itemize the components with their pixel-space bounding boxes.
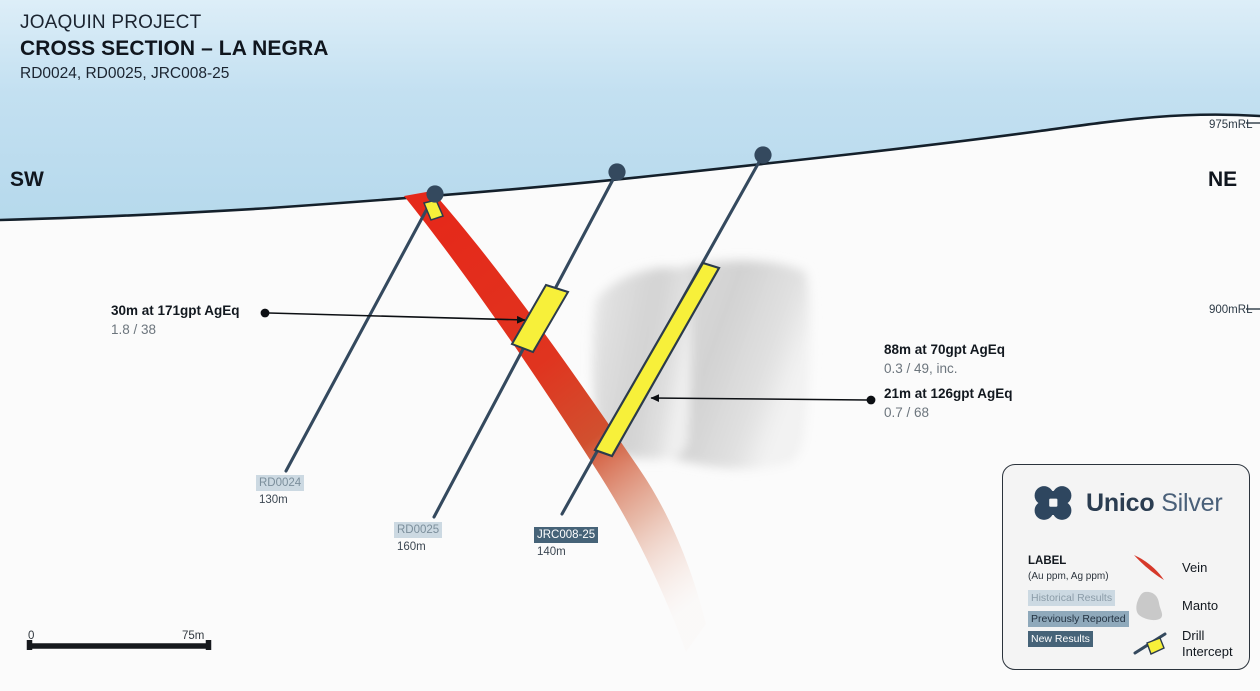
drillhole-label-rd0024[interactable]: RD0024 130m (256, 473, 304, 506)
legend-symbol-key: Vein Manto Drill Intercept (1131, 549, 1243, 663)
swatch-text: New Results (1028, 631, 1093, 647)
swatch-text: Previously Reported (1028, 611, 1129, 627)
elevation-label-975: 975mRL (1209, 119, 1252, 131)
drillhole-label-jrc008-25[interactable]: JRC008-25 140m (534, 525, 598, 558)
brand-word-secondary: Silver (1161, 489, 1222, 517)
unico-silver-mark-icon (1031, 483, 1077, 523)
title-block: JOAQUIN PROJECT CROSS SECTION – LA NEGRA… (20, 10, 329, 85)
scale-bar-end: 75m (182, 630, 204, 642)
intercept-headline: 88m at 70gpt AgEq (884, 341, 1013, 359)
drillhole-depth: 160m (394, 541, 442, 553)
legend-swatch-new-results: New Results (1028, 629, 1148, 647)
drillhole-id: RD0024 (256, 475, 304, 491)
cross-section-figure: JOAQUIN PROJECT CROSS SECTION – LA NEGRA… (0, 0, 1260, 691)
collar-marker-rd0025 (608, 163, 625, 180)
legend-label-units: (Au ppm, Ag ppm) (1028, 569, 1148, 584)
legend-entry-vein: Vein (1131, 549, 1243, 587)
swatch-text: Historical Results (1028, 590, 1115, 606)
legend-entry-manto: Manto (1131, 587, 1243, 625)
drillhole-depth: 140m (534, 546, 598, 558)
page-title: CROSS SECTION – LA NEGRA (20, 35, 329, 62)
legend-panel: Unico Silver LABEL (Au ppm, Ag ppm) Hist… (1002, 464, 1250, 670)
legend-entry-label: Drill Intercept (1182, 628, 1233, 660)
scale-bar-start: 0 (28, 630, 34, 642)
elevation-label-900: 900mRL (1209, 304, 1252, 316)
company-name: Unico Silver (1086, 489, 1223, 518)
intercept-grades: 0.7 / 68 (884, 403, 1013, 422)
intercept-callout-right: 88m at 70gpt AgEq 0.3 / 49, inc. 21m at … (884, 341, 1013, 422)
legend-swatch-previously-reported: Previously Reported (1028, 609, 1148, 627)
drillhole-id: RD0025 (394, 522, 442, 538)
intercept-grades: 1.8 / 38 (111, 320, 240, 339)
legend-label-heading: LABEL (1028, 553, 1148, 569)
collar-marker-rd0024 (426, 185, 443, 202)
legend-entry-label: Manto (1182, 598, 1218, 614)
drill-intercept-icon (1131, 627, 1173, 661)
legend-entry-label: Vein (1182, 560, 1207, 576)
company-logo: Unico Silver (1031, 483, 1223, 523)
legend-entry-drill-intercept: Drill Intercept (1131, 625, 1243, 663)
hole-list-subtitle: RD0024, RD0025, JRC008-25 (20, 62, 329, 85)
intercept-callout-left: 30m at 171gpt AgEq 1.8 / 38 (111, 302, 240, 339)
compass-label-ne: NE (1208, 168, 1237, 192)
collar-marker-jrc008-25 (754, 146, 771, 163)
brand-word-primary: Unico (1086, 489, 1154, 517)
drillhole-depth: 130m (256, 494, 304, 506)
project-name: JOAQUIN PROJECT (20, 10, 329, 35)
drillhole-label-rd0025[interactable]: RD0025 160m (394, 520, 442, 553)
scale-bar: 0 75m (22, 630, 212, 646)
legend-label-key: LABEL (Au ppm, Ag ppm) Historical Result… (1028, 553, 1148, 647)
intercept-grades: 0.3 / 49, inc. (884, 359, 1013, 378)
manto-icon (1131, 589, 1173, 623)
legend-swatch-historical: Historical Results (1028, 588, 1148, 606)
intercept-headline: 21m at 126gpt AgEq (884, 385, 1013, 403)
intercept-headline: 30m at 171gpt AgEq (111, 302, 240, 320)
drillhole-id: JRC008-25 (534, 527, 598, 543)
compass-label-sw: SW (10, 168, 44, 192)
vein-icon (1131, 551, 1173, 585)
